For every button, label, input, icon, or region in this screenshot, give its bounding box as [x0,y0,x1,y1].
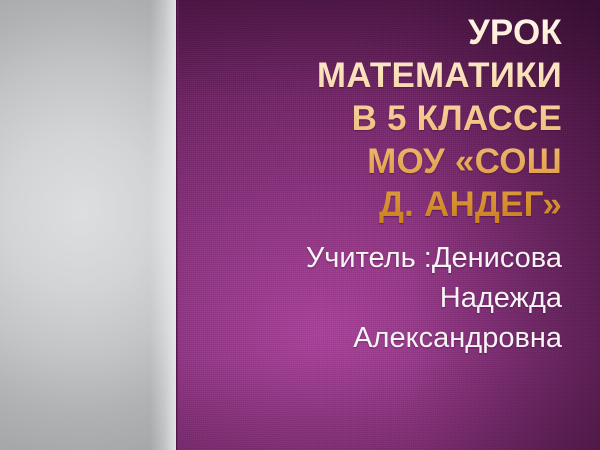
subtitle-line-1: Учитель :Денисова [306,242,562,274]
title-slide: Урокматематикив 5 классеМОУ «СОШд. Андег… [0,0,600,450]
subtitle-line-2: Надежда [440,282,562,314]
slide-subtitle: Учитель :ДенисоваНадеждаАлександровна [188,226,562,358]
title-line-4: МОУ «СОШ [367,142,562,181]
left-gray-panel [0,0,176,450]
slide-title: Урокматематикив 5 классеМОУ «СОШд. Андег… [188,0,562,226]
title-line-3: в 5 классе [352,99,562,138]
title-line-1: Урок [468,13,562,52]
slide-text-container: Урокматематикив 5 классеМОУ «СОШд. Андег… [176,0,600,450]
title-line-5: д. Андег» [379,185,562,224]
subtitle-line-3: Александровна [353,322,562,354]
title-line-2: математики [317,56,562,95]
